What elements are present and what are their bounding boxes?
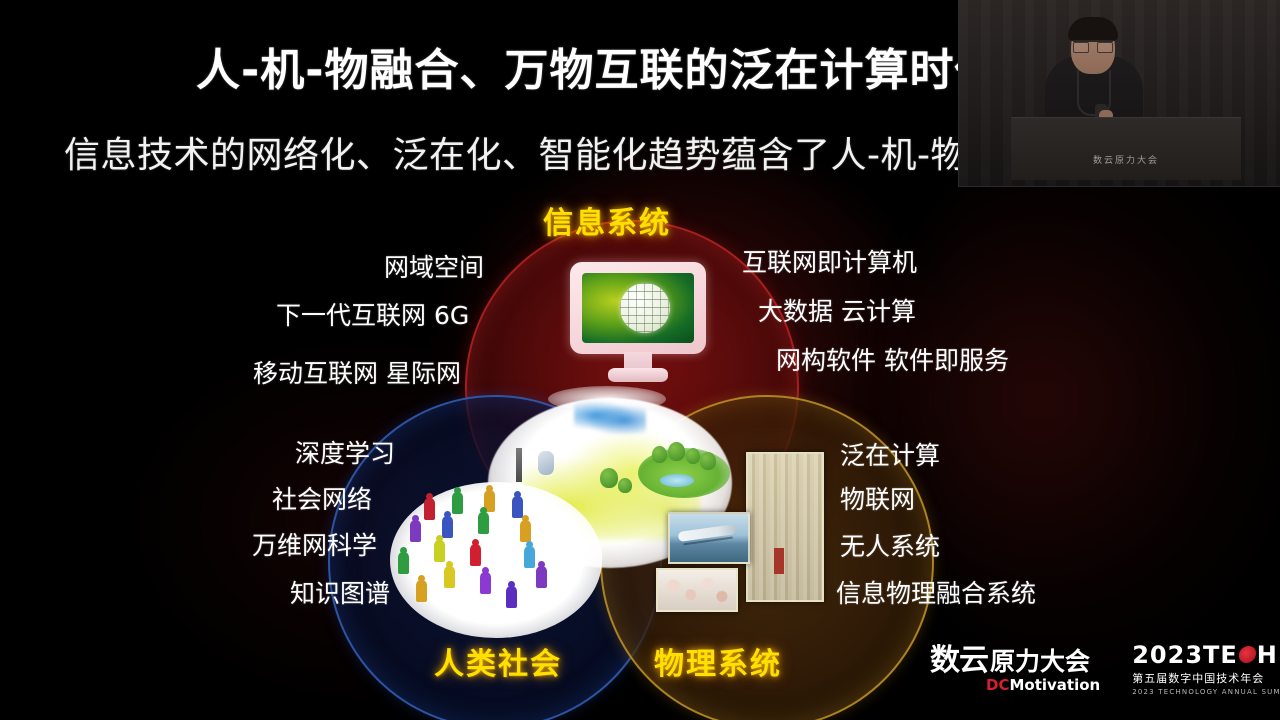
monitor-bezel: [570, 262, 706, 354]
podium: 数云原力大会: [1011, 117, 1241, 180]
logo-subtitle-cn: 第五届数字中国技术年会: [1132, 670, 1280, 686]
person-figure: [512, 496, 523, 518]
tree-icon: [668, 442, 685, 461]
slide-stage: 人-机-物融合、万物互联的泛在计算时代 信息技术的网络化、泛在化、智能化趋势蕴含…: [0, 0, 1280, 720]
person-figure: [480, 572, 491, 594]
tree-icon: [652, 446, 667, 463]
logo-tech-prefix: TE: [1203, 643, 1238, 667]
keyword-internetware-saas: 网构软件 软件即服务: [776, 341, 1009, 377]
logo-subtitle-en: 2023 TECHNOLOGY ANNUAL SUMMIT: [1132, 688, 1280, 696]
person-figure: [416, 580, 427, 602]
person-figure: [398, 552, 409, 574]
keyword-unmanned-systems: 无人系统: [840, 527, 940, 563]
venn-label-information-system: 信息系统: [543, 198, 671, 242]
tree-icon: [686, 448, 700, 464]
speaker-hair: [1068, 17, 1118, 41]
skyscraper-photo: [746, 452, 824, 602]
monitor-base: [608, 368, 668, 382]
keyword-ubiquitous-computing: 泛在计算: [840, 436, 940, 472]
logo-english-row: DCMotivation: [986, 678, 1100, 693]
crowd-photo: [656, 568, 738, 612]
conference-logo: 数云 原力大会 DCMotivation 2023TEH 第五届数字中国技术年会…: [930, 638, 1260, 700]
person-figure: [434, 540, 445, 562]
logo-cn-primary: 数云: [930, 646, 988, 676]
person-figure: [452, 492, 463, 514]
venn-label-human-society: 人类社会: [434, 639, 562, 683]
logo-tech-c-glyph: [1238, 646, 1257, 663]
logo-dc-text: DC: [986, 676, 1009, 694]
desktop-monitor-icon: [570, 262, 706, 384]
keyword-cyber-physical-systems: 信息物理融合系统: [836, 574, 1036, 610]
slide-subtitle: 信息技术的网络化、泛在化、智能化趋势蕴含了人-机-物: [64, 126, 967, 178]
keyword-next-gen-internet: 下一代互联网 6G: [276, 296, 469, 332]
person-figure: [524, 546, 535, 568]
person-figure: [520, 520, 531, 542]
mobile-device-icon: [538, 451, 554, 475]
tree-icon: [618, 478, 632, 493]
person-figure: [506, 586, 517, 608]
pond-shape: [660, 474, 694, 487]
venn-label-physical-system: 物理系统: [654, 639, 782, 683]
people-network-oval: [390, 482, 602, 638]
slide-title: 人-机-物融合、万物互联的泛在计算时代: [196, 34, 1000, 98]
keyword-big-data-cloud: 大数据 云计算: [758, 292, 916, 328]
logo-tech-suffix: H: [1257, 643, 1278, 667]
person-figure: [478, 512, 489, 534]
tree-icon: [700, 452, 716, 470]
person-figure: [444, 566, 455, 588]
keyword-internet-as-computer: 互联网即计算机: [742, 243, 917, 279]
logo-right-block: 2023TEH 第五届数字中国技术年会 2023 TECHNOLOGY ANNU…: [1132, 643, 1280, 696]
monitor-screen: [582, 273, 694, 343]
glasses-icon: [1073, 40, 1113, 51]
keyword-deep-learning: 深度学习: [295, 434, 395, 470]
keyword-cyberspace: 网域空间: [384, 248, 484, 284]
person-figure: [442, 516, 453, 538]
keyword-iot: 物联网: [840, 480, 915, 516]
utility-pole: [516, 448, 522, 482]
speaker-video-overlay[interactable]: 数云原力大会: [958, 0, 1280, 187]
logo-motivation-text: Motivation: [1009, 676, 1100, 694]
keyword-mobile-internet: 移动互联网 星际网: [253, 354, 461, 390]
person-figure: [410, 520, 421, 542]
keyword-knowledge-graph: 知识图谱: [290, 574, 390, 610]
logo-year-row: 2023TEH: [1132, 643, 1280, 667]
keyword-web-science: 万维网科学: [252, 526, 377, 562]
globe-icon: [620, 283, 670, 333]
keyword-social-network: 社会网络: [272, 480, 372, 516]
podium-text: 数云原力大会: [1011, 153, 1241, 166]
tree-icon: [600, 468, 618, 488]
person-figure: [536, 566, 547, 588]
logo-cn-secondary: 原力大会: [990, 649, 1090, 674]
logo-year: 2023: [1132, 643, 1203, 667]
logo-chinese-row: 数云 原力大会: [930, 646, 1100, 676]
person-figure: [470, 544, 481, 566]
airplane-photo: [668, 512, 750, 564]
logo-left-block: 数云 原力大会 DCMotivation: [930, 646, 1112, 693]
blue-map-shape: [574, 400, 646, 434]
person-figure: [424, 498, 435, 520]
